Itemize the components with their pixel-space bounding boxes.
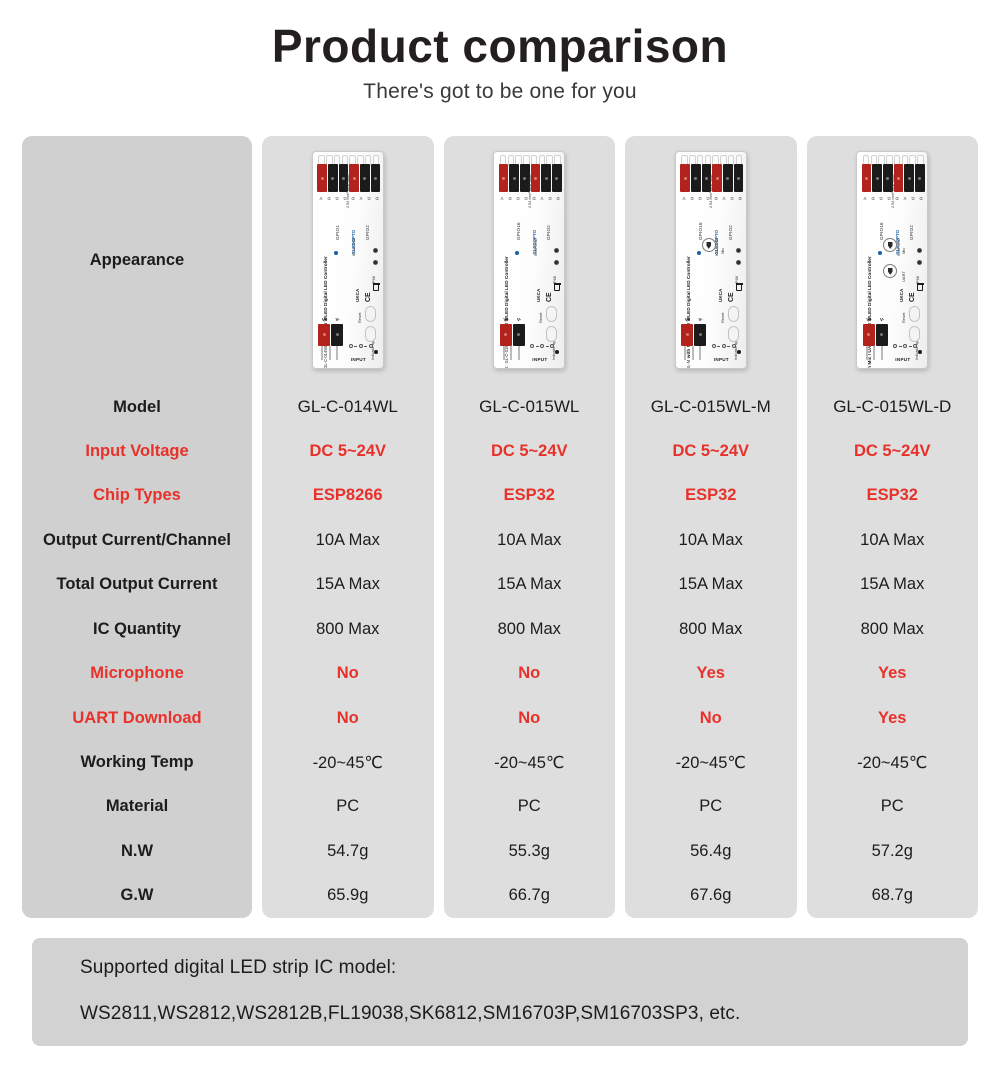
terminal-leg [503, 346, 505, 360]
row-label-text: IC Quantity [93, 620, 181, 639]
row-label-text: UART Download [72, 709, 201, 728]
value-text: DC 5~24V [491, 442, 568, 461]
cell-gross-weight-4: 68.7g [807, 874, 979, 918]
cell-material-1: PC [262, 785, 434, 829]
terminal-black [734, 164, 744, 192]
mounting-slot [546, 326, 557, 342]
status-led [736, 248, 741, 253]
input-symbol [530, 344, 554, 348]
row-label-text: Chip Types [93, 486, 181, 505]
led-controller-device: VDGGDVGDGPIO16GPIO2GLEDOPTOESP32 WLED Di… [493, 151, 565, 369]
input-terminal-block [318, 324, 344, 346]
ce-mark: CE [365, 293, 372, 303]
input-symbol [349, 344, 373, 348]
wire-spec-label: 2.54 mm² LED Strip [346, 175, 350, 208]
cell-gross-weight-3: 67.6g [625, 874, 797, 918]
pin-label: G [696, 194, 704, 203]
cell-ic-quantity-4: 800 Max [807, 607, 979, 651]
row-label-text: Total Output Current [56, 575, 217, 594]
indicator-light-dot [555, 350, 559, 354]
value-text: 55.3g [509, 842, 550, 861]
mounting-slot [546, 306, 557, 322]
terminal-red [712, 164, 722, 192]
input-symbol [712, 344, 736, 348]
gpio-label: GPIO2 [546, 225, 551, 240]
row-label-text: Working Temp [80, 753, 193, 772]
cell-microphone-4: Yes [807, 651, 979, 695]
terminal-leg [699, 346, 701, 360]
led-controller-device: VDGGDVGDGPIO16GPIO2GLEDOPTOESP32 WLED Di… [675, 151, 747, 369]
weee-bin-icon [917, 284, 923, 291]
terminal-leg [510, 346, 512, 360]
terminal-red [499, 164, 509, 192]
status-led [917, 260, 922, 265]
input-terminal-red [681, 324, 693, 346]
pin-label: D [688, 194, 696, 203]
input-voltage-labels: V+V- [318, 317, 344, 322]
input-terminal-block [681, 324, 707, 346]
row-label-chip-types: Chip Types [22, 474, 252, 518]
terminal-black [371, 164, 381, 192]
mounting-slot [909, 306, 920, 322]
terminal-leg [684, 346, 686, 360]
cell-net-weight-1: 54.7g [262, 829, 434, 873]
input-terminal-black [876, 324, 888, 346]
terminal-black [509, 164, 519, 192]
value-text: No [337, 709, 359, 728]
value-text: ESP8266 [313, 486, 383, 505]
value-text: ESP32 [867, 486, 918, 505]
value-text: DC 5~24V [309, 442, 386, 461]
v-label: V- [880, 317, 884, 322]
status-led [917, 248, 922, 253]
page-header: Product comparison There's got to be one… [0, 0, 1000, 104]
value-text: 15A Max [860, 575, 924, 594]
gpio-label: GPIO2 [909, 225, 914, 240]
value-text: 57.2g [872, 842, 913, 861]
terminal-black [552, 164, 562, 192]
cell-output-current-3: 10A Max [625, 518, 797, 562]
terminal-leg [321, 346, 323, 360]
io-label: IO33 GND [534, 239, 538, 257]
ukca-mark: UKCA [718, 289, 723, 302]
cell-material-2: PC [444, 785, 616, 829]
page-title: Product comparison [0, 22, 1000, 70]
value-text: 800 Max [679, 620, 742, 639]
product-column-3[interactable]: VDGGDVGDGPIO16GPIO2GLEDOPTOESP32 WLED Di… [625, 136, 797, 918]
terminal-legs [682, 346, 704, 360]
value-text: No [518, 664, 540, 683]
reset-label: Reset [538, 313, 543, 323]
terminal-red [349, 164, 359, 192]
mounting-slot [365, 306, 376, 322]
v-label: V- [699, 317, 703, 322]
io-label: IO14 GND [352, 239, 356, 257]
value-text: 15A Max [679, 575, 743, 594]
terminal-legs [500, 346, 522, 360]
cell-input-voltage-4: DC 5~24V [807, 429, 979, 473]
weee-bin-icon [554, 284, 560, 291]
led-controller-device: VDGGDVGDGPIO16GPIO2GLEDOPTOESP32 WLED Di… [856, 151, 928, 369]
input-terminal-black [694, 324, 706, 346]
terminal-black [723, 164, 733, 192]
pin-label: V [680, 194, 688, 203]
row-label-text: Output Current/Channel [43, 531, 231, 550]
page-subtitle: There's got to be one for you [0, 80, 1000, 104]
cell-gross-weight-2: 66.7g [444, 874, 616, 918]
cell-microphone-1: No [262, 651, 434, 695]
cell-model-3: GL-C-015WL-M [625, 385, 797, 429]
pin-label: G [728, 194, 736, 203]
cell-microphone-2: No [444, 651, 616, 695]
mounting-slot [909, 326, 920, 342]
cell-uart-2: No [444, 696, 616, 740]
value-text: No [700, 709, 722, 728]
input-voltage-labels: V+V- [499, 317, 525, 322]
cell-output-current-2: 10A Max [444, 518, 616, 562]
cell-input-voltage-3: DC 5~24V [625, 429, 797, 473]
terminal-black [872, 164, 882, 192]
cell-net-weight-2: 55.3g [444, 829, 616, 873]
cell-output-current-4: 10A Max [807, 518, 979, 562]
terminal-black [328, 164, 338, 192]
v-label: V+ [685, 317, 691, 322]
row-label-text: Appearance [90, 251, 184, 270]
cell-total-output-3: 15A Max [625, 563, 797, 607]
cell-uart-1: No [262, 696, 434, 740]
terminal-leg [329, 346, 331, 360]
comparison-table: Appearance Model Input Voltage Chip Type… [22, 136, 978, 918]
cell-total-output-2: 15A Max [444, 563, 616, 607]
status-led [736, 260, 741, 265]
row-label-text: Model [113, 398, 161, 417]
cell-microphone-3: Yes [625, 651, 797, 695]
pin-label: D [554, 194, 562, 203]
row-label-uart-download: UART Download [22, 696, 252, 740]
terminal-black [691, 164, 701, 192]
value-text: 10A Max [679, 531, 743, 550]
value-text: 54.7g [327, 842, 368, 861]
value-text: 10A Max [860, 531, 924, 550]
terminal-leg [336, 346, 338, 360]
row-label-appearance: Appearance [22, 136, 252, 385]
microphone-label: Mic [901, 248, 906, 254]
cell-ic-quantity-1: 800 Max [262, 607, 434, 651]
weee-bin-icon [373, 284, 379, 291]
value-text: DC 5~24V [672, 442, 749, 461]
pin-label: G [365, 194, 373, 203]
comparison-label-column: Appearance Model Input Voltage Chip Type… [22, 136, 252, 918]
reset-label: Reset [720, 313, 725, 323]
pin-label: V [357, 194, 365, 203]
value-text: -20~45℃ [676, 753, 746, 773]
row-label-ic-quantity: IC Quantity [22, 607, 252, 651]
input-voltage-labels: V+V- [862, 317, 888, 322]
v-label: V+ [866, 317, 872, 322]
value-text: 800 Max [316, 620, 379, 639]
value-text: DC 5~24V [854, 442, 931, 461]
device-spec-line: Model NO.: GL-C-015WL-M [687, 360, 691, 369]
product-appearance-4: VDGGDVGDGPIO16GPIO2GLEDOPTOESP32 WLED Di… [807, 136, 979, 385]
supported-ic-list: WS2811,WS2812,WS2812B,FL19038,SK6812,SM1… [80, 1004, 968, 1023]
terminal-red [531, 164, 541, 192]
pin-label: D [736, 194, 744, 203]
v-label: V- [336, 317, 340, 322]
terminal-black [904, 164, 914, 192]
input-terminal-block [499, 324, 525, 346]
value-text: PC [699, 797, 722, 816]
cell-chip-type-1: ESP8266 [262, 474, 434, 518]
cell-ic-quantity-2: 800 Max [444, 607, 616, 651]
gpio-label: GPIO2 [728, 225, 733, 240]
value-text: GL-C-015WL [479, 397, 579, 417]
row-label-material: Material [22, 785, 252, 829]
cell-chip-type-3: ESP32 [625, 474, 797, 518]
product-appearance-2: VDGGDVGDGPIO16GPIO2GLEDOPTOESP32 WLED Di… [444, 136, 616, 385]
terminal-leg [866, 346, 868, 360]
ce-mark: CE [909, 293, 916, 303]
pin-label: V [317, 194, 325, 203]
mounting-slot [365, 326, 376, 342]
terminal-red [317, 164, 327, 192]
input-terminal-black [513, 324, 525, 346]
value-text: 68.7g [872, 886, 913, 905]
value-text: PC [518, 797, 541, 816]
terminal-leg [873, 346, 875, 360]
cell-net-weight-3: 56.4g [625, 829, 797, 873]
reset-label: Reset [357, 313, 362, 323]
led-controller-device: VDGGDVGDGPIO1GPIO2GLEDOPTOESP8266 WLED D… [312, 151, 384, 369]
value-text: No [518, 709, 540, 728]
row-label-text: Input Voltage [85, 442, 188, 461]
terminal-leg [881, 346, 883, 360]
indicator-light-dot [918, 350, 922, 354]
v-label: V- [517, 317, 521, 322]
cell-input-voltage-2: DC 5~24V [444, 429, 616, 473]
value-text: Yes [878, 664, 906, 683]
cell-output-current-1: 10A Max [262, 518, 434, 562]
value-text: 67.6g [690, 886, 731, 905]
reset-label: Reset [901, 313, 906, 323]
cell-chip-type-2: ESP32 [444, 474, 616, 518]
row-label-working-temp: Working Temp [22, 740, 252, 784]
value-text: 10A Max [316, 531, 380, 550]
terminal-leg [692, 346, 694, 360]
pin-label: D [917, 194, 925, 203]
row-label-output-current-channel: Output Current/Channel [22, 518, 252, 562]
wire-spec-label: 2.54 mm² LED Strip [528, 175, 532, 208]
input-terminal-red [863, 324, 875, 346]
terminal-red [894, 164, 904, 192]
cell-model-1: GL-C-014WL [262, 385, 434, 429]
terminal-leg [518, 346, 520, 360]
terminal-legs [319, 346, 341, 360]
input-terminal-black [331, 324, 343, 346]
value-text: PC [336, 797, 359, 816]
status-led [373, 248, 378, 253]
weee-bin-icon [736, 284, 742, 291]
value-text: No [337, 664, 359, 683]
pin-label: G [333, 194, 341, 203]
mounting-slot [728, 306, 739, 322]
value-text: ESP32 [685, 486, 736, 505]
value-text: ESP32 [504, 486, 555, 505]
input-label: INPUT [895, 357, 910, 362]
wire-spec-label: 2.54 mm² LED Strip [891, 175, 895, 208]
row-label-text: Microphone [90, 664, 184, 683]
status-led [554, 248, 559, 253]
value-text: PC [881, 797, 904, 816]
row-label-text: Material [106, 797, 168, 816]
value-text: 65.9g [327, 886, 368, 905]
value-text: 800 Max [498, 620, 561, 639]
terminal-red [862, 164, 872, 192]
value-text: GL-C-015WL-D [833, 397, 951, 417]
value-text: 10A Max [497, 531, 561, 550]
gpio-label: GPIO2 [365, 225, 370, 240]
cell-gross-weight-1: 65.9g [262, 874, 434, 918]
value-text: 800 Max [861, 620, 924, 639]
cell-material-3: PC [625, 785, 797, 829]
value-text: GL-C-015WL-M [651, 397, 771, 417]
pin-label: D [373, 194, 381, 203]
ukca-mark: UKCA [355, 289, 360, 302]
value-text: Yes [878, 709, 906, 728]
input-label: INPUT [532, 357, 547, 362]
io-label: IO33 GND [897, 239, 901, 257]
cell-material-4: PC [807, 785, 979, 829]
value-text: GL-C-014WL [298, 397, 398, 417]
cell-working-temp-1: -20~45℃ [262, 740, 434, 784]
row-label-input-voltage: Input Voltage [22, 429, 252, 473]
status-led [373, 260, 378, 265]
value-text: -20~45℃ [313, 753, 383, 773]
row-label-gross-weight: G.W [22, 874, 252, 918]
cell-working-temp-4: -20~45℃ [807, 740, 979, 784]
terminal-legs [863, 346, 885, 360]
supported-ic-heading: Supported digital LED strip IC model: [80, 958, 968, 977]
indicator-light-dot [737, 350, 741, 354]
microphone-label: Mic [720, 248, 725, 254]
value-text: 15A Max [316, 575, 380, 594]
input-voltage-labels: V+V- [681, 317, 707, 322]
value-text: 66.7g [509, 886, 550, 905]
row-label-net-weight: N.W [22, 829, 252, 873]
row-label-total-output-current: Total Output Current [22, 563, 252, 607]
row-label-text: N.W [121, 842, 153, 861]
row-label-text: G.W [121, 886, 154, 905]
ukca-mark: UKCA [536, 289, 541, 302]
ukca-mark: UKCA [899, 289, 904, 302]
value-text: Yes [697, 664, 725, 683]
cell-net-weight-4: 57.2g [807, 829, 979, 873]
value-text: 15A Max [497, 575, 561, 594]
indicator-light-dot [374, 350, 378, 354]
io-label: IO33 GND [715, 239, 719, 257]
cell-model-4: GL-C-015WL-D [807, 385, 979, 429]
cell-working-temp-2: -20~45℃ [444, 740, 616, 784]
input-terminal-red [500, 324, 512, 346]
input-label: INPUT [714, 357, 729, 362]
terminal-black [541, 164, 551, 192]
row-label-microphone: Microphone [22, 651, 252, 695]
status-led [554, 260, 559, 265]
input-terminal-block [862, 324, 888, 346]
cell-input-voltage-1: DC 5~24V [262, 429, 434, 473]
mounting-slot [728, 326, 739, 342]
product-column-2[interactable]: VDGGDVGDGPIO16GPIO2GLEDOPTOESP32 WLED Di… [444, 136, 616, 918]
terminal-red [680, 164, 690, 192]
ce-mark: CE [546, 293, 553, 303]
value-text: -20~45℃ [494, 753, 564, 773]
pin-label: D [325, 194, 333, 203]
wire-spec-label: 2.54 mm² LED Strip [709, 175, 713, 208]
terminal-black [360, 164, 370, 192]
pin-label: V [720, 194, 728, 203]
ce-mark: CE [728, 293, 735, 303]
input-label: INPUT [351, 357, 366, 362]
cell-total-output-4: 15A Max [807, 563, 979, 607]
row-label-model: Model [22, 385, 252, 429]
v-label: V+ [503, 317, 509, 322]
product-appearance-1: VDGGDVGDGPIO1GPIO2GLEDOPTOESP8266 WLED D… [262, 136, 434, 385]
cell-total-output-1: 15A Max [262, 563, 434, 607]
input-symbol [893, 344, 917, 348]
cell-ic-quantity-3: 800 Max [625, 607, 797, 651]
cell-working-temp-3: -20~45℃ [625, 740, 797, 784]
supported-ic-note: Supported digital LED strip IC model: WS… [32, 938, 968, 1046]
input-terminal-red [318, 324, 330, 346]
product-appearance-3: VDGGDVGDGPIO16GPIO2GLEDOPTOESP32 WLED Di… [625, 136, 797, 385]
cell-chip-type-4: ESP32 [807, 474, 979, 518]
cell-uart-3: No [625, 696, 797, 740]
product-column-4[interactable]: VDGGDVGDGPIO16GPIO2GLEDOPTOESP32 WLED Di… [807, 136, 979, 918]
value-text: 56.4g [690, 842, 731, 861]
cell-uart-4: Yes [807, 696, 979, 740]
terminal-black [915, 164, 925, 192]
product-column-1[interactable]: VDGGDVGDGPIO1GPIO2GLEDOPTOESP8266 WLED D… [262, 136, 434, 918]
cell-model-2: GL-C-015WL [444, 385, 616, 429]
value-text: -20~45℃ [857, 753, 927, 773]
v-label: V+ [322, 317, 328, 322]
